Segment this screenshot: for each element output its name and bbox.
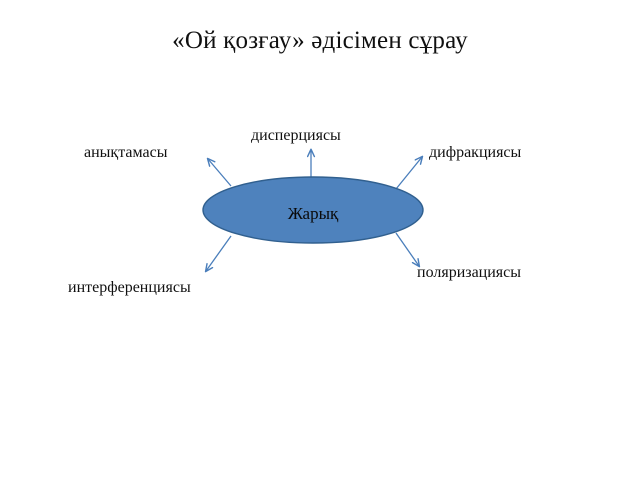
branch-label-difrakcia[interactable]: дифракциясы bbox=[429, 143, 521, 162]
diagram-graphic bbox=[0, 0, 640, 480]
connector-polarizacia bbox=[396, 233, 419, 266]
branch-label-dispersia[interactable]: дисперциясы bbox=[251, 126, 341, 145]
branch-label-polarizacia[interactable]: поляризациясы bbox=[417, 263, 521, 282]
connector-difrakcia bbox=[396, 157, 422, 189]
branch-label-interferencia[interactable]: интерференциясы bbox=[68, 278, 191, 297]
connector-anyqtamasy bbox=[208, 159, 231, 186]
connector-interferencia bbox=[206, 236, 231, 271]
slide-canvas: «Ой қозғау» әдісімен сұрау Жарық анықтам… bbox=[0, 0, 640, 480]
branch-label-anyqtamasy[interactable]: анықтамасы bbox=[84, 143, 167, 162]
center-node-ellipse[interactable] bbox=[203, 177, 423, 243]
